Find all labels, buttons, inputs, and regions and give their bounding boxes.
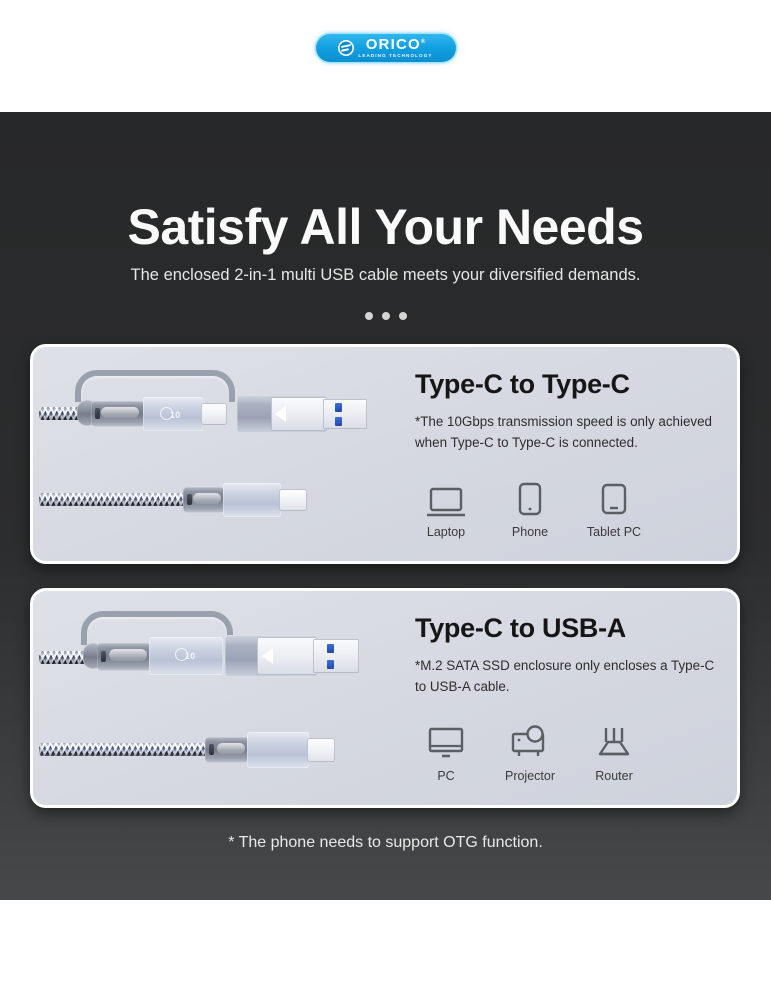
cable-braid — [39, 493, 187, 506]
orico-logo: ORICO® LEADING TECHNOLOGY — [316, 34, 456, 62]
projector-icon — [508, 717, 552, 763]
connector-notch — [101, 651, 106, 662]
superspeed-10-badge: 10 — [175, 648, 196, 661]
footer-note: * The phone needs to support OTG functio… — [0, 834, 771, 852]
page-title: Satisfy All Your Needs — [0, 198, 771, 256]
cable-image-type-c-to-type-c: 10 — [33, 347, 393, 561]
type-c-tip — [201, 403, 227, 425]
type-c-tip — [307, 738, 335, 762]
globe-icon — [338, 40, 354, 56]
brand-logo-area: ORICO® LEADING TECHNOLOGY — [0, 34, 771, 62]
connector-highlight — [109, 649, 147, 661]
device-label: Projector — [505, 769, 555, 783]
usb-a-plug — [313, 639, 359, 673]
connector-body — [223, 483, 281, 517]
usb-pin — [327, 644, 334, 653]
superspeed-ring-icon — [160, 407, 173, 420]
tablet-icon — [598, 473, 630, 519]
brand-name: ORICO® — [366, 37, 426, 52]
monitor-icon — [425, 717, 467, 763]
cable-braid — [39, 743, 209, 756]
registered-mark: ® — [421, 39, 425, 45]
divider-dot — [399, 312, 407, 320]
connector-notch — [95, 408, 100, 419]
device-laptop: Laptop — [415, 473, 477, 539]
device-label: PC — [437, 769, 454, 783]
supported-devices-row: Laptop Phone Tablet PC — [415, 473, 645, 539]
divider-dot — [382, 312, 390, 320]
device-pc: PC — [415, 717, 477, 783]
superspeed-10-badge: 10 — [160, 407, 181, 420]
page-subtitle: The enclosed 2-in-1 multi USB cable meet… — [0, 266, 771, 285]
connector-highlight — [217, 743, 245, 754]
device-label: Router — [595, 769, 633, 783]
connector-highlight — [193, 493, 221, 504]
connector-notch — [187, 494, 192, 505]
device-label: Phone — [512, 525, 548, 539]
connector-notch — [209, 744, 214, 755]
phone-icon — [515, 473, 545, 519]
connector-highlight — [101, 407, 139, 418]
feature-card-type-c-to-type-c: 10 Type-C to Type-C *The 10Gbps transmis… — [30, 344, 740, 564]
card-text-block: Type-C to Type-C *The 10Gbps transmissio… — [415, 369, 727, 454]
cable-image-type-c-to-usb-a: 10 — [33, 591, 393, 805]
usb-pin — [327, 660, 334, 669]
product-feature-banner: ORICO® LEADING TECHNOLOGY Satisfy All Yo… — [0, 0, 771, 1000]
supported-devices-row: PC Projector — [415, 717, 645, 783]
device-label: Laptop — [427, 525, 465, 539]
brand-tagline: LEADING TECHNOLOGY — [358, 54, 432, 59]
usb-pin — [335, 417, 342, 426]
logo-text: ORICO® LEADING TECHNOLOGY — [358, 37, 432, 58]
device-router: Router — [583, 717, 645, 783]
usb-a-plug — [323, 399, 367, 429]
card-text-block: Type-C to USB-A *M.2 SATA SSD enclosure … — [415, 613, 727, 698]
router-icon — [594, 717, 634, 763]
device-label: Tablet PC — [587, 525, 641, 539]
card-title: Type-C to USB-A — [415, 613, 727, 644]
card-note: *The 10Gbps transmission speed is only a… — [415, 412, 727, 454]
card-note: *M.2 SATA SSD enclosure only encloses a … — [415, 656, 727, 698]
laptop-icon — [425, 473, 467, 519]
direction-arrow-icon — [262, 648, 273, 664]
device-phone: Phone — [499, 473, 561, 539]
device-tablet: Tablet PC — [583, 473, 645, 539]
device-projector: Projector — [499, 717, 561, 783]
superspeed-ring-icon — [175, 648, 188, 661]
direction-arrow-icon — [275, 406, 286, 422]
usb-pin — [335, 403, 342, 412]
feature-card-type-c-to-usb-a: 10 Type-C to USB-A *M.2 SATA SSD enclosu… — [30, 588, 740, 808]
divider-dot — [365, 312, 373, 320]
dots-divider — [0, 312, 771, 320]
type-c-tip — [279, 489, 307, 511]
connector-body — [247, 732, 309, 768]
card-title: Type-C to Type-C — [415, 369, 727, 400]
